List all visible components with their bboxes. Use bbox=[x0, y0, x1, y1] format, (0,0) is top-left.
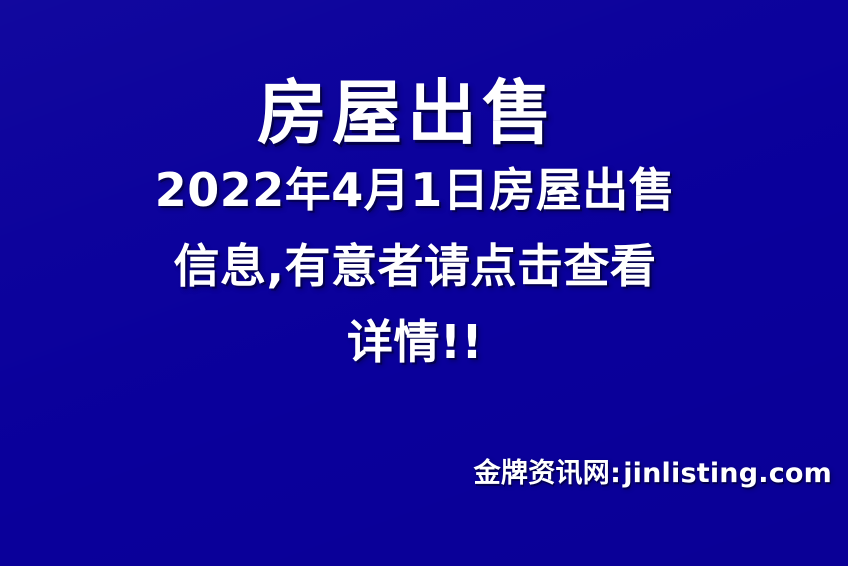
page-title: 房屋出售 bbox=[0, 74, 848, 152]
announcement-line-1: 2022年4月1日房屋出售 bbox=[0, 152, 830, 228]
announcement-line-3: 详情!! bbox=[0, 304, 830, 380]
site-name-label: 金牌资讯网: bbox=[474, 458, 622, 489]
announcement-body: 2022年4月1日房屋出售 信息,有意者请点击查看 详情!! bbox=[0, 152, 848, 380]
site-watermark: 金牌资讯网:jinlisting.com bbox=[474, 458, 832, 489]
site-url-label: jinlisting.com bbox=[623, 458, 832, 489]
poster-canvas: 房屋出售 2022年4月1日房屋出售 信息,有意者请点击查看 详情!! 金牌资讯… bbox=[0, 0, 848, 566]
announcement-line-2: 信息,有意者请点击查看 bbox=[0, 228, 830, 304]
